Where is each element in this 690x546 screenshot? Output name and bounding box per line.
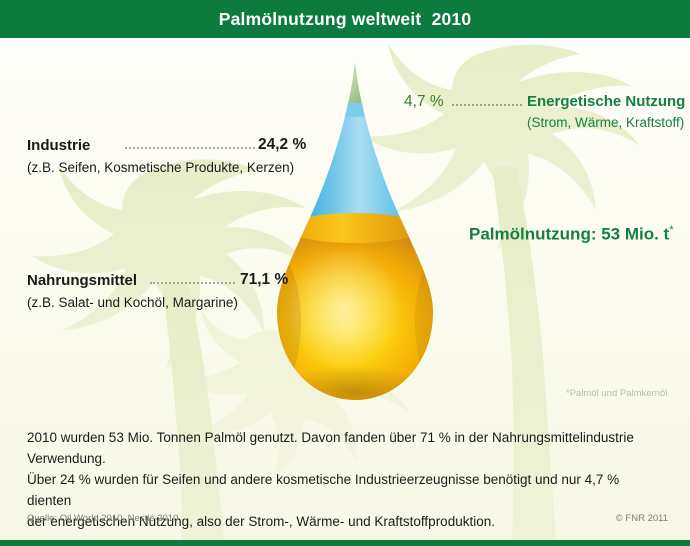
label-industrie-name: Industrie <box>27 137 90 154</box>
label-nahrungsmittel-percent: 71,1 % <box>240 271 288 289</box>
label-energetische-percent: 4,7 % <box>404 93 444 111</box>
copyright-notice: © FNR 2011 <box>616 513 668 524</box>
label-energetische-detail: (Strom, Wärme, Kraftstoff) <box>527 115 684 130</box>
infographic-root: Palmölnutzung weltweit 2010 Industrie 24… <box>0 0 690 546</box>
source-credit: Quelle: Oil World 2010, Nestlé 2010 <box>27 513 178 524</box>
oil-droplet-chart <box>255 60 455 405</box>
body-line-2: Über 24 % wurden für Seifen und andere k… <box>27 469 667 511</box>
label-nahrungsmittel-detail: (z.B. Salat- und Kochöl, Margarine) <box>27 295 238 310</box>
total-headline-text: Palmölnutzung: 53 Mio. t <box>469 225 669 244</box>
page-title: Palmölnutzung weltweit 2010 <box>0 0 690 38</box>
leader-energetische <box>452 102 522 106</box>
total-headline-asterisk: * <box>669 224 673 236</box>
leader-industrie <box>125 145 255 149</box>
bottom-rule <box>0 540 690 546</box>
label-nahrungsmittel-name: Nahrungsmittel <box>27 272 137 289</box>
body-line-1: 2010 wurden 53 Mio. Tonnen Palmöl genutz… <box>27 427 667 469</box>
label-industrie-detail: (z.B. Seifen, Kosmetische Produkte, Kerz… <box>27 160 294 175</box>
total-headline: Palmölnutzung: 53 Mio. t* <box>469 224 674 245</box>
label-industrie-percent: 24,2 % <box>258 136 306 154</box>
leader-nahrungsmittel <box>150 280 235 284</box>
footnote-text: *Palmöl und Palmkernöl <box>566 388 667 399</box>
title-bar: Palmölnutzung weltweit 2010 <box>0 0 690 38</box>
label-energetische-name: Energetische Nutzung <box>527 93 685 110</box>
